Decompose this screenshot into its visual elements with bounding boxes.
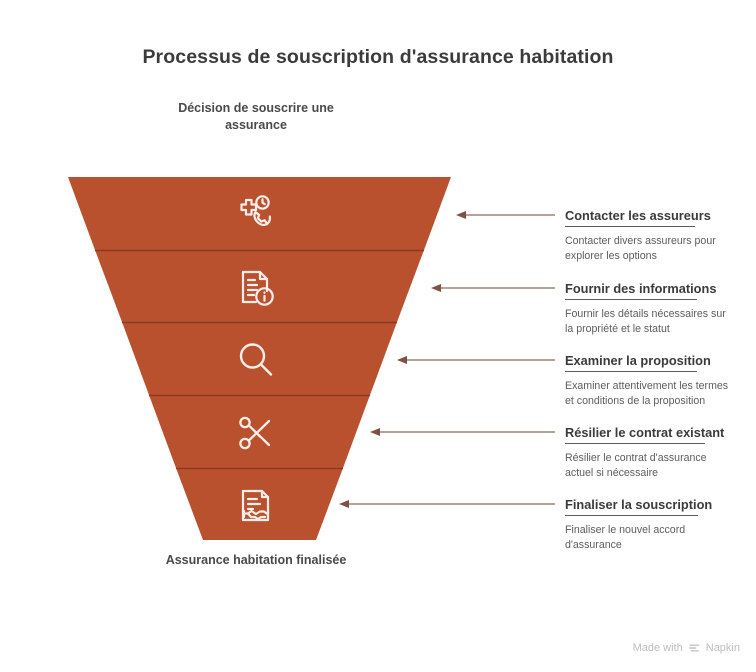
step-title-1: Contacter les assureurs bbox=[565, 208, 711, 223]
made-with-label: Made with bbox=[633, 642, 683, 654]
step-description-5: Finaliser le nouvel accord d'assurance bbox=[565, 523, 733, 552]
step-underline-3 bbox=[565, 371, 697, 372]
napkin-brand-label: Napkin bbox=[706, 642, 740, 654]
funnel-bottom-label: Assurance habitation finalisée bbox=[146, 552, 366, 569]
phone-medical-icon bbox=[228, 186, 284, 242]
step-underline-4 bbox=[565, 443, 705, 444]
funnel-graphic bbox=[0, 0, 756, 672]
connector-arrowhead-1 bbox=[456, 211, 466, 219]
connector-arrowhead-5 bbox=[339, 500, 349, 508]
page-title: Processus de souscription d'assurance ha… bbox=[0, 46, 756, 69]
step-description-3: Examiner attentivement les termes et con… bbox=[565, 379, 733, 408]
step-title-3: Examiner la proposition bbox=[565, 353, 711, 368]
connector-arrowhead-2 bbox=[431, 284, 441, 292]
step-underline-2 bbox=[565, 299, 697, 300]
connector-arrowhead-4 bbox=[370, 428, 380, 436]
step-underline-5 bbox=[565, 515, 698, 516]
step-description-4: Résilier le contrat d'assurance actuel s… bbox=[565, 451, 733, 480]
funnel-top-label: Décision de souscrire une assurance bbox=[146, 100, 366, 134]
magnifier-icon bbox=[228, 332, 284, 388]
step-title-5: Finaliser la souscription bbox=[565, 497, 712, 512]
document-info-icon bbox=[228, 259, 284, 315]
step-title-4: Résilier le contrat existant bbox=[565, 425, 724, 440]
step-title-2: Fournir des informations bbox=[565, 281, 716, 296]
napkin-logo-icon bbox=[688, 642, 701, 654]
napkin-credit[interactable]: Made with Napkin bbox=[633, 642, 740, 654]
step-description-2: Fournir les détails nécessaires sur la p… bbox=[565, 307, 733, 336]
step-underline-1 bbox=[565, 226, 695, 227]
step-description-1: Contacter divers assureurs pour explorer… bbox=[565, 234, 733, 263]
scissors-icon bbox=[228, 405, 284, 461]
contract-handshake-icon bbox=[228, 477, 284, 533]
funnel-infographic-page: Processus de souscription d'assurance ha… bbox=[0, 0, 756, 672]
connector-arrowhead-3 bbox=[397, 356, 407, 364]
